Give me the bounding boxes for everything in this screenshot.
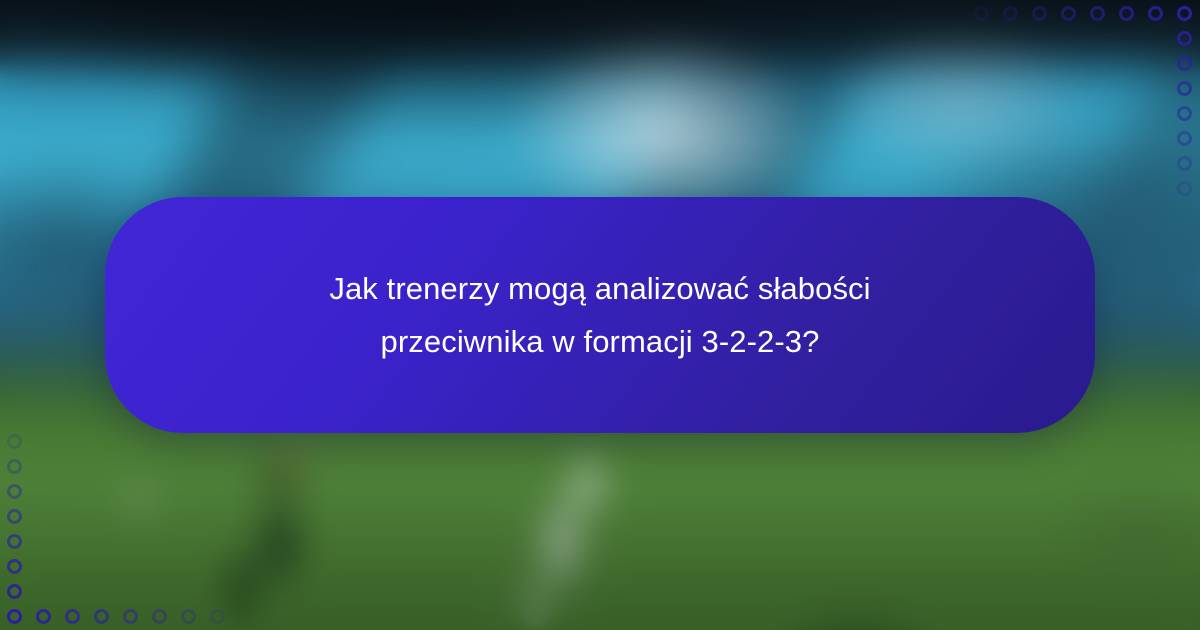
- decorative-circle: [1177, 56, 1192, 71]
- decorative-circle: [1090, 6, 1105, 21]
- decorative-circle: [7, 559, 22, 574]
- decorative-circle: [7, 509, 22, 524]
- social-card-canvas: Jak trenerzy mogą analizować słabości pr…: [0, 0, 1200, 630]
- decorative-circle: [36, 609, 51, 624]
- decorative-circle: [94, 609, 109, 624]
- decorative-circle: [1177, 31, 1192, 46]
- decorative-circle: [7, 609, 22, 624]
- decorative-circle: [1177, 156, 1192, 171]
- decorative-circle: [7, 534, 22, 549]
- decorative-circle: [7, 584, 22, 599]
- dot-row-bottom-left: [7, 609, 225, 624]
- decorative-circle: [1061, 6, 1076, 21]
- decorative-circle: [1119, 6, 1134, 21]
- decorative-circle: [1177, 181, 1192, 196]
- decorative-circle: [7, 434, 22, 449]
- dot-row-top-right: [974, 6, 1192, 21]
- decorative-circle: [65, 609, 80, 624]
- decorative-circle: [1177, 81, 1192, 96]
- decorative-circle: [1003, 6, 1018, 21]
- decorative-circle: [1177, 131, 1192, 146]
- decorative-circle: [1148, 6, 1163, 21]
- decorative-circle: [123, 609, 138, 624]
- dot-column-right: [1177, 6, 1192, 196]
- decorative-circle: [181, 609, 196, 624]
- decorative-circle: [152, 609, 167, 624]
- decorative-circle: [7, 459, 22, 474]
- decorative-circle: [1177, 106, 1192, 121]
- dot-column-left: [7, 434, 22, 624]
- decorative-circle: [1032, 6, 1047, 21]
- decorative-circle: [210, 609, 225, 624]
- decorative-circle: [7, 484, 22, 499]
- question-card: Jak trenerzy mogą analizować słabości pr…: [105, 197, 1095, 433]
- decorative-circle: [974, 6, 989, 21]
- question-text: Jak trenerzy mogą analizować słabości pr…: [210, 262, 990, 369]
